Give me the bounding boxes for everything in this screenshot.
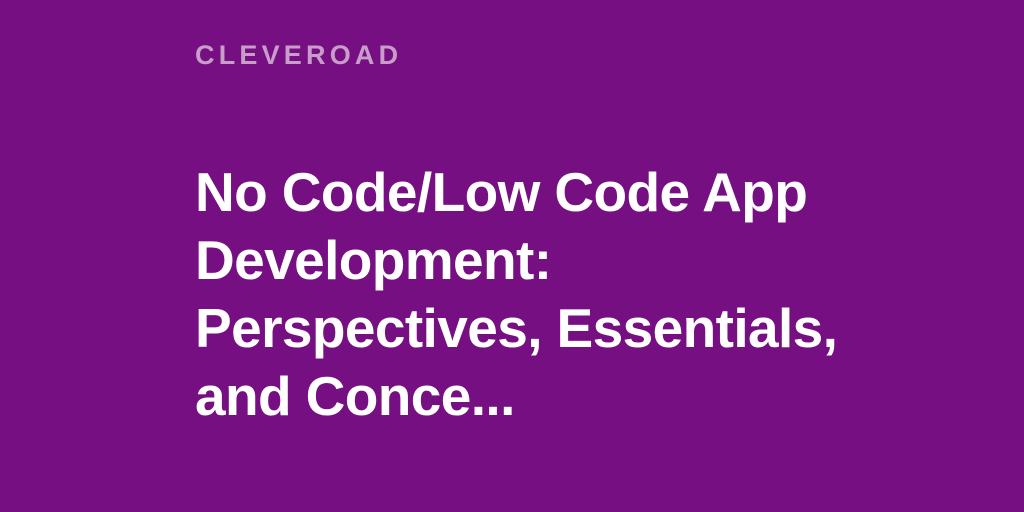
article-title-line-2: Development:: [195, 226, 815, 294]
article-preview-card: CLEVEROAD No Code/Low Code App Developme…: [0, 0, 1024, 512]
article-title-line-3: Perspectives, Essentials,: [195, 294, 815, 362]
article-title-line-1: No Code/Low Code App: [195, 158, 815, 226]
article-title: No Code/Low Code App Development: Perspe…: [195, 158, 815, 430]
cleveroad-logo[interactable]: CLEVEROAD: [195, 42, 402, 69]
article-title-line-4: and Conce...: [195, 362, 815, 430]
